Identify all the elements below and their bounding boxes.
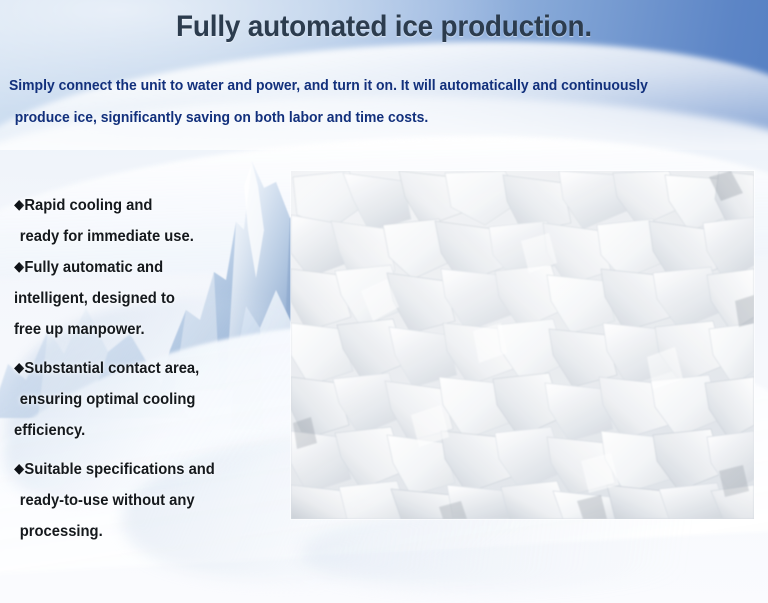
bullet-line: ◆Suitable specifications and [14,454,275,485]
bullet-text: Rapid cooling and [24,197,152,214]
diamond-bullet-icon: ◆ [14,461,24,475]
flake-ice-photo [291,171,754,519]
bullet-line: free up manpower. [14,314,275,345]
diamond-bullet-icon: ◆ [14,197,24,211]
bullet-line: ◆Substantial contact area, [14,353,275,384]
bullet-line: intelligent, designed to [14,283,275,314]
list-item: ◆Suitable specifications and ready-to-us… [14,454,275,547]
bullet-line: ready for immediate use. [14,221,275,252]
bullet-text: Fully automatic and [24,259,163,276]
bullet-line: efficiency. [14,415,275,446]
feature-bullet-list: ◆Rapid cooling and ready for immediate u… [14,190,275,547]
list-item: ◆Rapid cooling and ready for immediate u… [14,190,275,252]
bullet-text: Substantial contact area, [24,360,199,377]
flake-ice-illustration [291,171,754,519]
bullet-line: ◆Fully automatic and [14,252,275,283]
list-item: ◆Fully automatic and intelligent, design… [14,252,275,345]
bullet-text: Suitable specifications and [24,461,214,478]
subtitle-line-2: produce ice, significantly saving on bot… [9,102,716,134]
diamond-bullet-icon: ◆ [14,259,24,273]
page-title: Fully automated ice production. [27,10,741,44]
bullet-line: ◆Rapid cooling and [14,190,275,221]
subtitle-line-1: Simply connect the unit to water and pow… [9,70,716,102]
list-item: ◆Substantial contact area, ensuring opti… [14,353,275,446]
subtitle-paragraph: Simply connect the unit to water and pow… [9,70,716,134]
bullet-line: ensuring optimal cooling [14,384,275,415]
diamond-bullet-icon: ◆ [14,360,24,374]
bullet-line: processing. [14,516,275,547]
slide-canvas: Fully automated ice production. Simply c… [0,0,768,603]
bullet-line: ready-to-use without any [14,485,275,516]
